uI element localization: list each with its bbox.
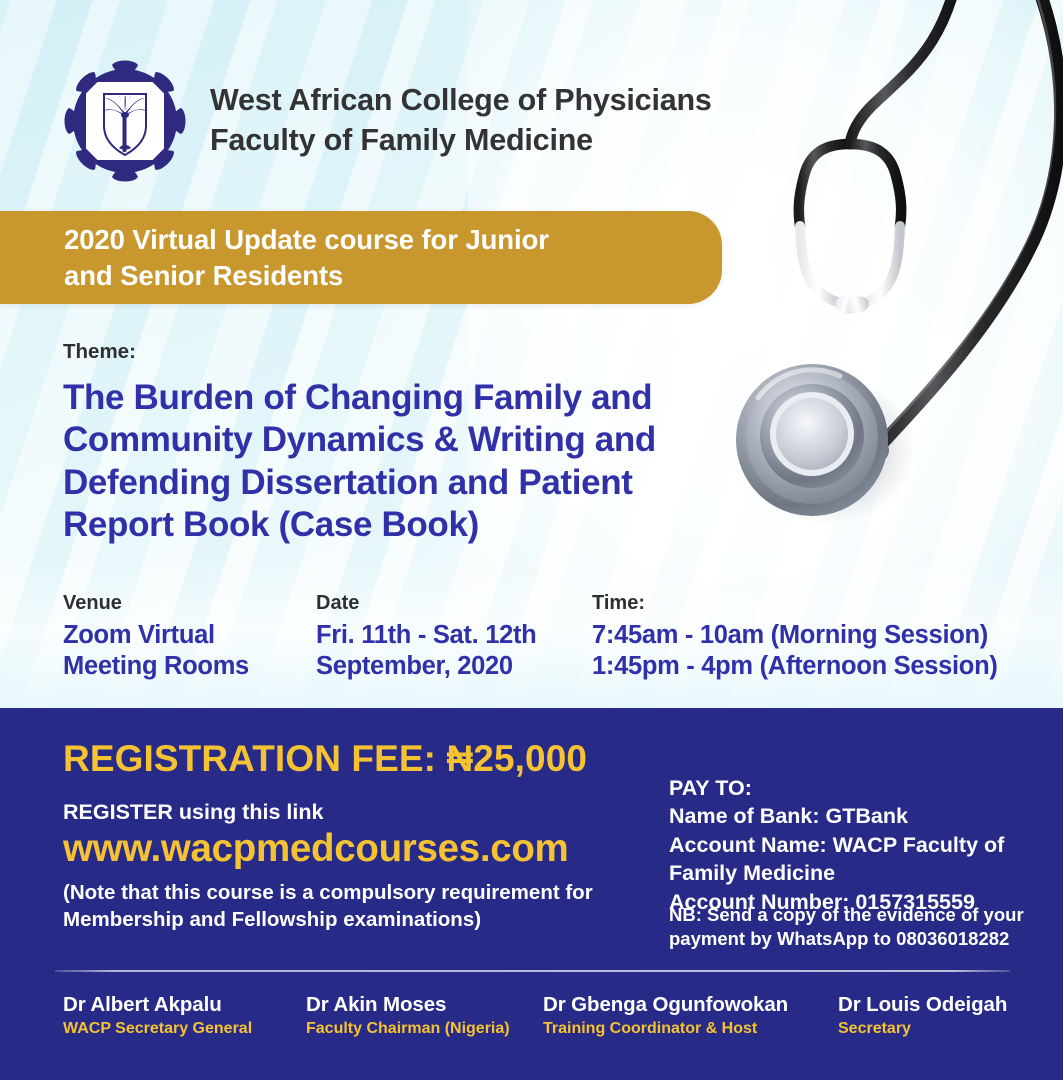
detail-date: Date Fri. 11th - Sat. 12th September, 20…	[316, 591, 592, 681]
signatory: Dr Louis Odeigah Secretary	[838, 992, 1038, 1039]
signatory-name: Dr Akin Moses	[306, 992, 543, 1018]
payment-details: PAY TO: Name of Bank: GTBank Account Nam…	[669, 774, 1049, 916]
signatory: Dr Gbenga Ogunfowokan Training Coordinat…	[543, 992, 838, 1039]
venue-value: Zoom Virtual Meeting Rooms	[63, 620, 316, 681]
time-label: Time:	[592, 591, 1012, 616]
signatory-name: Dr Louis Odeigah	[838, 992, 1038, 1018]
registration-url-link[interactable]: www.wacpmedcourses.com	[63, 827, 568, 871]
signatories-row: Dr Albert Akpalu WACP Secretary General …	[63, 992, 1043, 1039]
theme-label: Theme:	[63, 340, 723, 365]
date-value: Fri. 11th - Sat. 12th September, 2020	[316, 620, 592, 681]
stethoscope-icon	[700, 0, 1063, 600]
wacp-crest-logo-icon	[62, 58, 188, 184]
signatory-role: WACP Secretary General	[63, 1019, 306, 1040]
time-value: 7:45am - 10am (Morning Session) 1:45pm -…	[592, 620, 1012, 681]
registration-fee-label: REGISTRATION FEE:	[63, 738, 436, 779]
course-title-text: 2020 Virtual Update course for Junior an…	[0, 222, 573, 294]
registration-fee: REGISTRATION FEE: ₦25,000	[63, 738, 587, 780]
event-details-row: Venue Zoom Virtual Meeting Rooms Date Fr…	[63, 591, 1012, 681]
course-title-banner: 2020 Virtual Update course for Junior an…	[0, 211, 722, 304]
signatory-role: Secretary	[838, 1019, 1038, 1040]
payment-nb-note: NB: Send a copy of the evidence of your …	[669, 903, 1041, 950]
signatory-name: Dr Gbenga Ogunfowokan	[543, 992, 838, 1018]
register-instruction: REGISTER using this link	[63, 800, 323, 825]
signatory-role: Training Coordinator & Host	[543, 1019, 838, 1040]
organization-title: West African College of Physicians Facul…	[210, 81, 712, 160]
date-label: Date	[316, 591, 592, 616]
signatory-name: Dr Albert Akpalu	[63, 992, 306, 1018]
registration-fee-amount: ₦25,000	[446, 738, 587, 779]
signatory: Dr Akin Moses Faculty Chairman (Nigeria)	[306, 992, 543, 1039]
signatory: Dr Albert Akpalu WACP Secretary General	[63, 992, 306, 1039]
event-flyer: West African College of Physicians Facul…	[0, 0, 1063, 1080]
detail-venue: Venue Zoom Virtual Meeting Rooms	[63, 591, 316, 681]
flyer-header: West African College of Physicians Facul…	[62, 58, 712, 184]
signatory-role: Faculty Chairman (Nigeria)	[306, 1019, 543, 1040]
theme-title: The Burden of Changing Family and Commun…	[63, 377, 723, 547]
detail-time: Time: 7:45am - 10am (Morning Session) 1:…	[592, 591, 1012, 681]
venue-label: Venue	[63, 591, 316, 616]
registration-note: (Note that this course is a compulsory r…	[63, 880, 643, 933]
signatories-divider	[55, 970, 1010, 972]
theme-section: Theme: The Burden of Changing Family and…	[63, 340, 723, 547]
registration-panel: REGISTRATION FEE: ₦25,000 REGISTER using…	[0, 708, 1063, 1080]
